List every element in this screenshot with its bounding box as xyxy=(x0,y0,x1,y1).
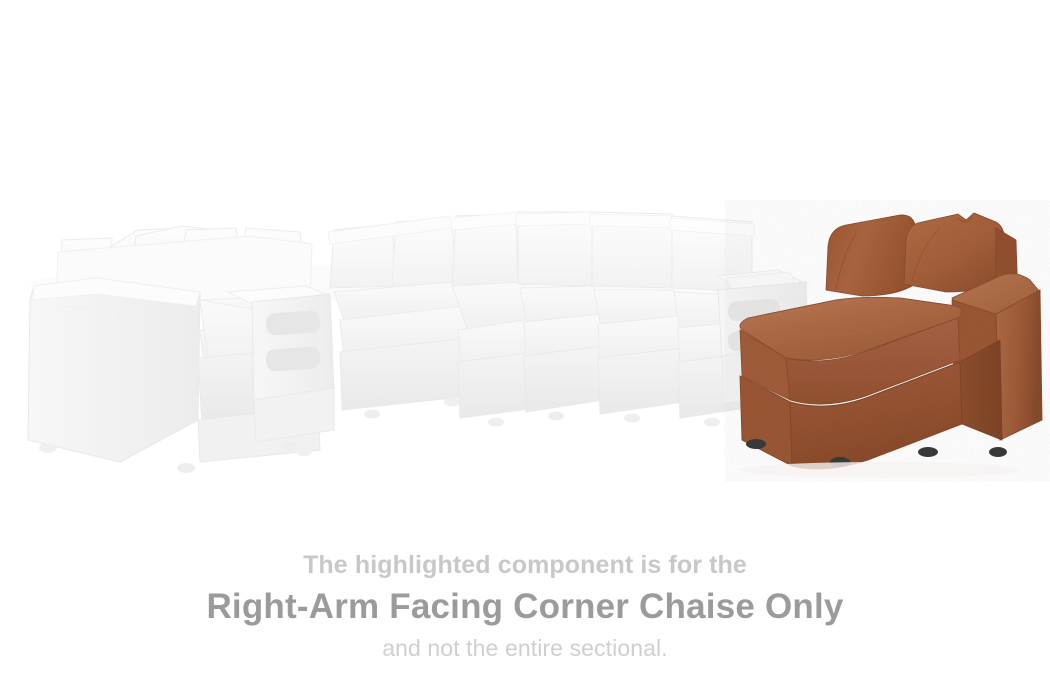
caption-line-intro: The highlighted component is for the xyxy=(0,548,1050,582)
sectional-sofa-illustration xyxy=(0,0,1050,520)
screenshot-canvas: The highlighted component is for the Rig… xyxy=(0,0,1050,700)
ghost-sectional-group xyxy=(28,212,810,473)
ghost-module-armless-chair-3 xyxy=(590,212,684,423)
caption-line-component-name: Right-Arm Facing Corner Chaise Only xyxy=(0,584,1050,629)
highlighted-module-raf-corner-chaise xyxy=(740,213,1042,469)
ghost-module-armless-chair-2 xyxy=(516,212,604,421)
ghost-module-armless-chair-1 xyxy=(328,216,470,419)
caption-line-disclaimer: and not the entire sectional. xyxy=(0,632,1050,664)
caption-block: The highlighted component is for the Rig… xyxy=(0,548,1050,664)
